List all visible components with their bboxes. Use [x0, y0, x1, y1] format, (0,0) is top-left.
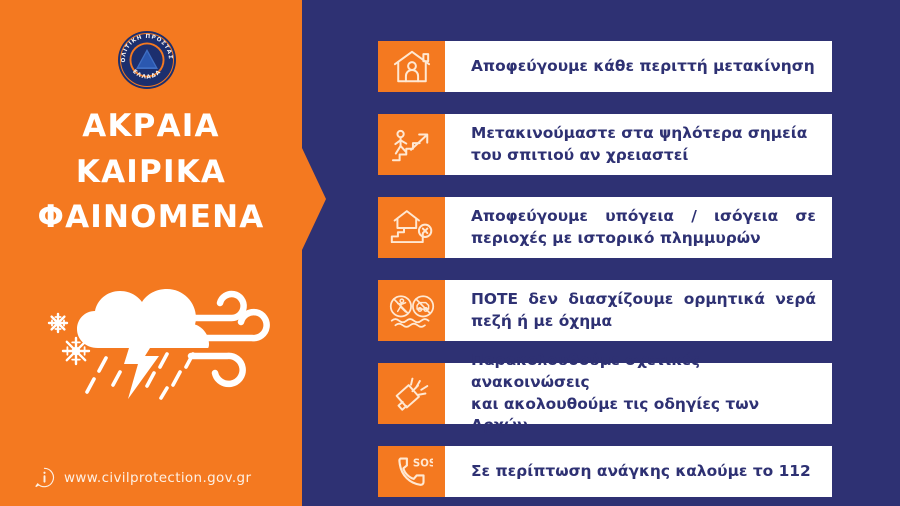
tip-line: ΠΟΤΕ δεν διασχίζουμε ορμητικά νερά [471, 289, 816, 311]
tip-row[interactable]: ΠΟΤΕ δεν διασχίζουμε ορμητικά νερά πεζή … [378, 280, 832, 341]
tip-line: του σπιτιού αν χρειαστεί [471, 145, 816, 167]
tip-line: Αποφεύγουμε υπόγεια / ισόγεια σε [471, 206, 816, 228]
tip-row[interactable]: Μετακινούμαστε στα ψηλότερα σημεία του σ… [378, 114, 832, 175]
megaphone-icon [378, 363, 445, 424]
title-line-3: ΦΑΙΝΟΜΕΝΑ [0, 195, 302, 241]
tip-line: και ακολουθούμε τις οδηγίες των Αρχών [471, 394, 816, 438]
left-orange-panel: ΠΟΛΙΤΙΚΗ ΠΡΟΣΤΑΣΙΑ ΕΛΛΑΔΑ ΑΚΡΑΙΑ ΚΑΙΡΙΚΑ… [0, 0, 326, 506]
tip-text: Μετακινούμαστε στα ψηλότερα σημεία του σ… [445, 114, 832, 175]
tip-line: Αποφεύγουμε κάθε περιττή μετακίνηση [471, 56, 816, 78]
phone-sos-icon: SOS [378, 446, 445, 497]
tip-row[interactable]: Παρακολουθούμε σχετικές ανακοινώσεις και… [378, 363, 832, 424]
no-crossing-water-icon [378, 280, 445, 341]
website-url[interactable]: www.civilprotection.gov.gr [64, 470, 251, 486]
tip-line: Παρακολουθούμε σχετικές ανακοινώσεις [471, 350, 816, 394]
footer: www.civilprotection.gov.gr [34, 467, 251, 488]
sos-label: SOS [413, 458, 433, 469]
tip-line: Σε περίπτωση ανάγκης καλούμε το 112 [471, 461, 816, 483]
tip-text: Παρακολουθούμε σχετικές ανακοινώσεις και… [445, 363, 832, 424]
tip-row[interactable]: Αποφεύγουμε κάθε περιττή μετακίνηση [378, 41, 832, 92]
title-line-1: ΑΚΡΑΙΑ [0, 104, 302, 150]
tip-text: Αποφεύγουμε κάθε περιττή μετακίνηση [445, 41, 832, 92]
tip-row[interactable]: SOS Σε περίπτωση ανάγκης καλούμε το 112 [378, 446, 832, 497]
basement-no-entry-icon [378, 197, 445, 258]
tip-text: Αποφεύγουμε υπόγεια / ισόγεια σε περιοχέ… [445, 197, 832, 258]
info-circle-icon [34, 467, 55, 488]
storm-weather-illustration [28, 276, 290, 404]
tip-line: Μετακινούμαστε στα ψηλότερα σημεία [471, 123, 816, 145]
tip-line: περιοχές με ιστορικό πλημμυρών [471, 228, 816, 250]
poster-title: ΑΚΡΑΙΑ ΚΑΙΡΙΚΑ ΦΑΙΝΟΜΕΝΑ [0, 104, 302, 241]
infographic-poster: ΠΟΛΙΤΙΚΗ ΠΡΟΣΤΑΣΙΑ ΕΛΛΑΔΑ ΑΚΡΑΙΑ ΚΑΙΡΙΚΑ… [0, 0, 900, 506]
tip-text: Σε περίπτωση ανάγκης καλούμε το 112 [445, 446, 832, 497]
house-person-icon [378, 41, 445, 92]
civil-protection-logo: ΠΟΛΙΤΙΚΗ ΠΡΟΣΤΑΣΙΑ ΕΛΛΑΔΑ [115, 28, 179, 92]
tip-line: πεζή ή με όχημα [471, 311, 816, 333]
tip-row[interactable]: Αποφεύγουμε υπόγεια / ισόγεια σε περιοχέ… [378, 197, 832, 258]
tips-list: Αποφεύγουμε κάθε περιττή μετακίνηση Μετα… [378, 41, 832, 497]
title-line-2: ΚΑΙΡΙΚΑ [0, 150, 302, 196]
stairs-up-arrow-icon [378, 114, 445, 175]
tip-text: ΠΟΤΕ δεν διασχίζουμε ορμητικά νερά πεζή … [445, 280, 832, 341]
